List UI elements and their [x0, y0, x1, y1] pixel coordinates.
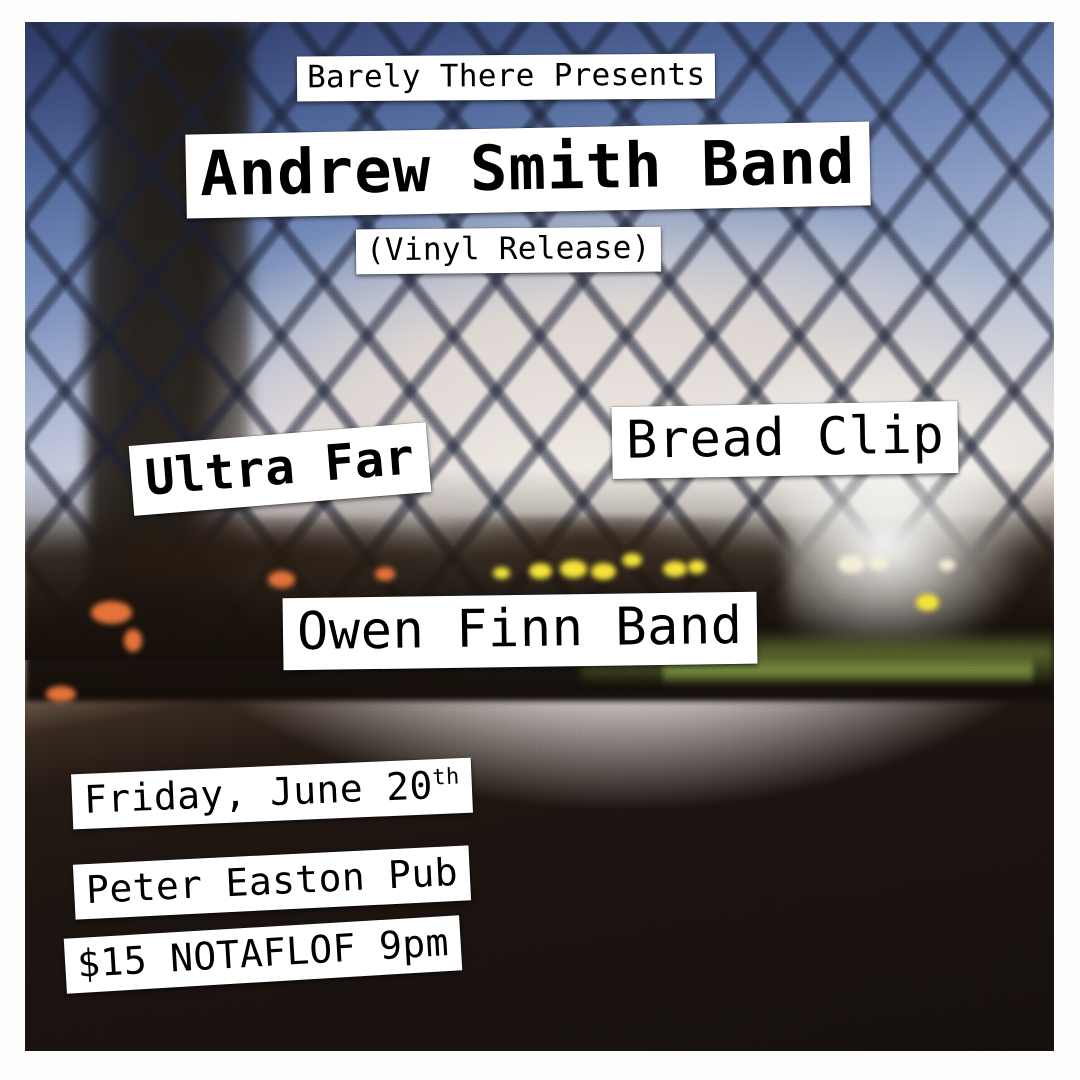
street-light-yellow-4 [663, 561, 687, 576]
presenter-strip: Barely There Presents [297, 54, 716, 102]
support-act-strip-3: Owen Finn Band [283, 592, 758, 671]
street-light-orange-0 [91, 601, 132, 624]
date-text: Friday, June 20 [83, 763, 433, 822]
street-light-yellow-1 [560, 560, 587, 577]
street-light-yellow-7 [493, 567, 509, 578]
headliner-strip: Andrew Smith Band [185, 121, 870, 218]
poster-canvas: Barely There Presents Andrew Smith Band … [0, 0, 1080, 1080]
street-light-white-0 [838, 555, 865, 572]
street-light-yellow-6 [916, 594, 939, 610]
street-light-yellow-2 [591, 563, 616, 579]
date-ordinal: th [432, 764, 460, 790]
street-light-yellow-0 [529, 563, 552, 578]
support-act-strip-2: Bread Clip [611, 401, 958, 479]
street-light-yellow-5 [688, 560, 707, 573]
street-light-orange-1 [124, 629, 143, 652]
street-light-orange-4 [375, 567, 396, 580]
subtitle-strip: (Vinyl Release) [356, 227, 661, 275]
street-light-orange-3 [268, 571, 295, 587]
